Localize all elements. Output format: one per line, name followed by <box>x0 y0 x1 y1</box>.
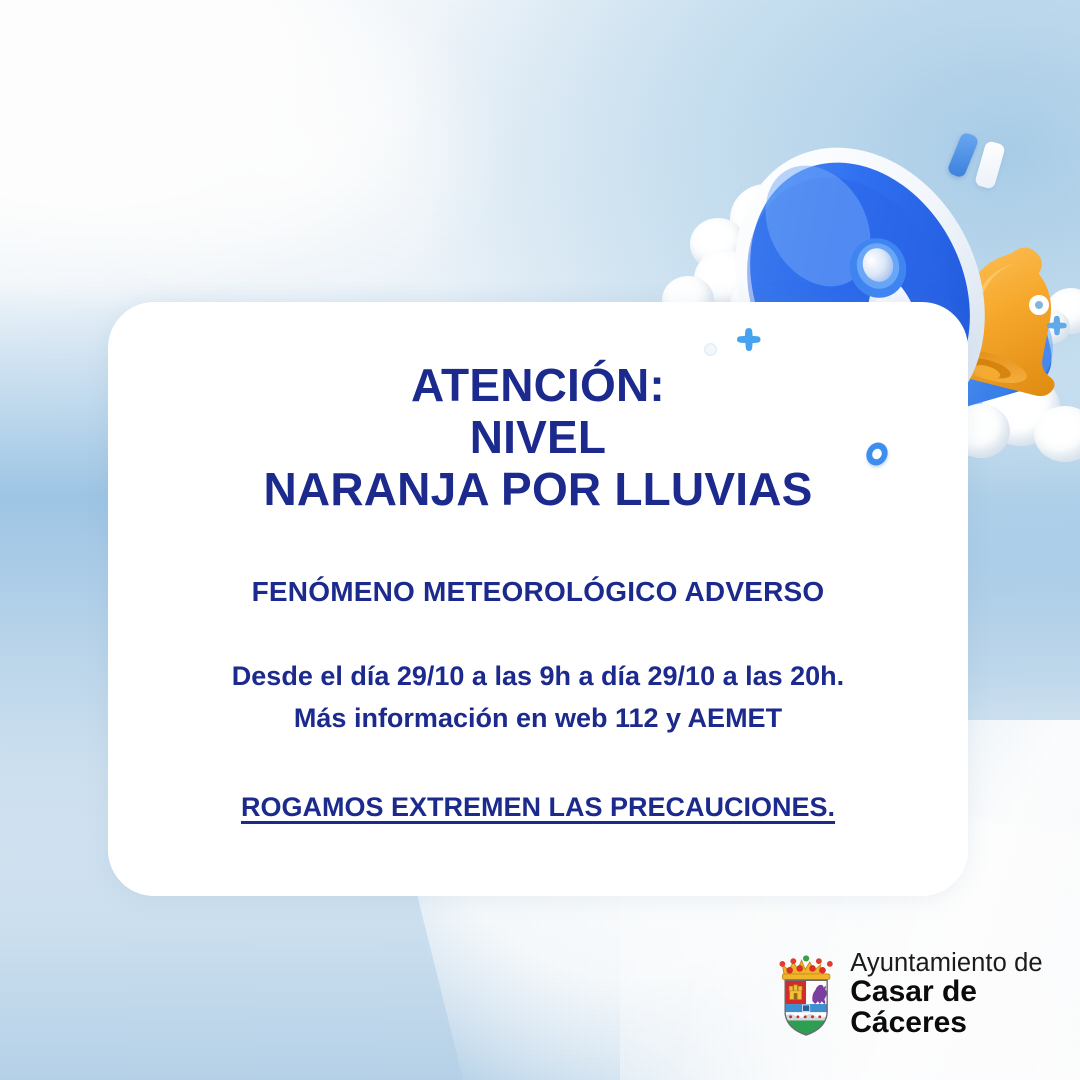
municipality-logo: Ayuntamiento de Casar de Cáceres <box>776 948 1080 1040</box>
logo-line-2: Casar de Cáceres <box>850 977 1080 1038</box>
logo-text-block: Ayuntamiento de Casar de Cáceres <box>850 950 1080 1038</box>
alert-period-line-1: Desde el día 29/10 a las 9h a día 29/10 … <box>232 656 844 698</box>
page-title: ATENCIÓN: NIVEL NARANJA POR LLUVIAS <box>263 360 812 516</box>
shield-part <box>785 980 827 1036</box>
sky-cross-sparkle <box>1046 315 1068 337</box>
announcement-card: ATENCIÓN: NIVEL NARANJA POR LLUVIAS FENÓ… <box>108 302 968 896</box>
alert-period-line-2: Más información en web 112 y AEMET <box>232 698 844 740</box>
poster-canvas: ATENCIÓN: NIVEL NARANJA POR LLUVIAS FENÓ… <box>0 0 1080 1080</box>
logo-line-1: Ayuntamiento de <box>850 950 1080 976</box>
subtitle-phenomenon: FENÓMENO METEOROLÓGICO ADVERSO <box>252 576 825 608</box>
announcement-card-body: ATENCIÓN: NIVEL NARANJA POR LLUVIAS FENÓ… <box>108 302 968 896</box>
dot-sparkle-card <box>704 343 717 356</box>
precaution-notice: ROGAMOS EXTREMEN LAS PRECAUCIONES. <box>241 792 835 823</box>
coat-of-arms-icon <box>776 948 836 1040</box>
cross-sparkle-card <box>736 327 762 353</box>
crown-part <box>779 955 832 979</box>
white-ring-sparkle <box>1029 295 1049 315</box>
alert-period: Desde el día 29/10 a las 9h a día 29/10 … <box>232 656 844 740</box>
